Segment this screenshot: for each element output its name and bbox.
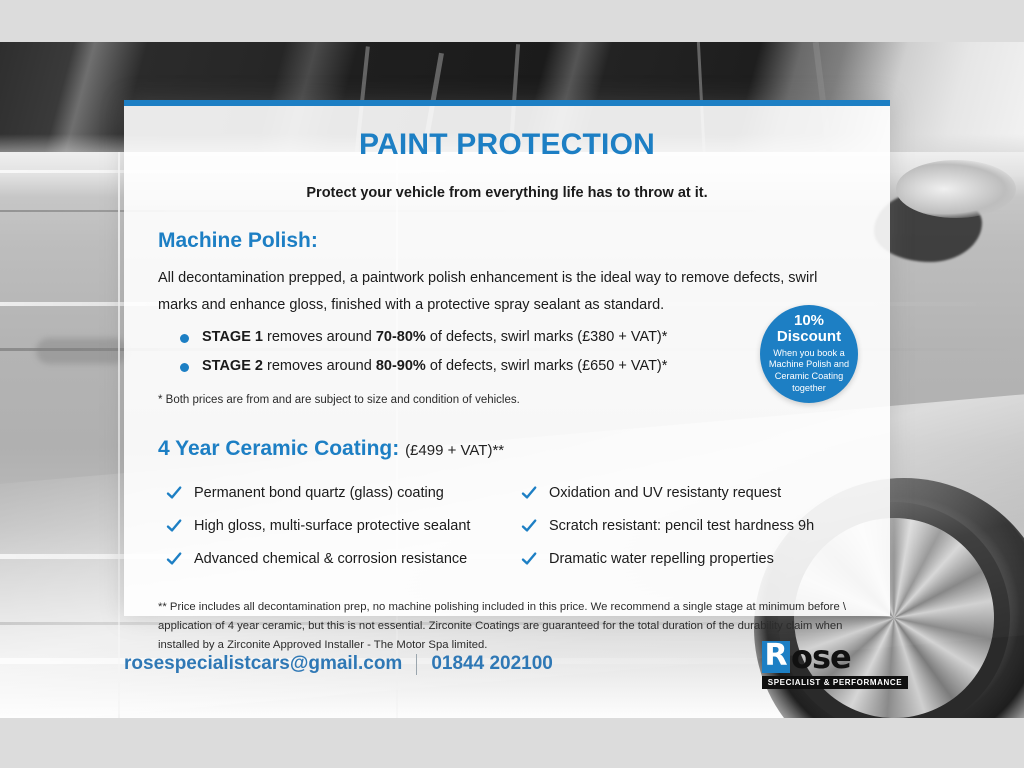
brand-logo: R ose SPECIALIST & PERFORMANCE — [762, 640, 910, 689]
logo-tagline: SPECIALIST & PERFORMANCE — [762, 676, 908, 689]
discount-badge: 10% Discount When you book a Machine Pol… — [760, 305, 858, 403]
stage-list: STAGE 1 removes around 70-80% of defects… — [158, 327, 856, 379]
stage-percent: 80-90% — [376, 358, 426, 374]
stage-name: STAGE 1 — [202, 329, 263, 345]
machine-polish-footnote: * Both prices are from and are subject t… — [158, 392, 856, 409]
discount-percent: 10% — [794, 313, 824, 329]
feature-item: Dramatic water repelling properties — [521, 543, 856, 576]
logo-wordmark: R ose — [762, 640, 910, 674]
feature-label: Permanent bond quartz (glass) coating — [194, 483, 444, 504]
stage-percent: 70-80% — [376, 329, 426, 345]
section-title-ceramic-coating: 4 Year Ceramic Coating: (£499 + VAT)** — [158, 437, 856, 461]
bullet-dot-icon — [180, 363, 189, 372]
contact-email[interactable]: rosespecialistcars@gmail.com — [124, 653, 402, 675]
check-icon — [166, 551, 182, 567]
photo-door-handle — [36, 338, 128, 364]
check-icon — [521, 551, 537, 567]
ceramic-feature-grid: Permanent bond quartz (glass) coating Ox… — [166, 477, 856, 576]
stage-name: STAGE 2 — [202, 358, 263, 374]
section-title-machine-polish: Machine Polish: — [158, 229, 856, 253]
letterbox-top — [0, 0, 1024, 42]
feature-item: Advanced chemical & corrosion resistance — [166, 543, 501, 576]
letterbox-bottom — [0, 718, 1024, 768]
page-subtitle: Protect your vehicle from everything lif… — [158, 185, 856, 201]
stage-tail-text: of defects, swirl marks (£650 + VAT)* — [426, 358, 668, 374]
stage-mid-text: removes around — [263, 329, 376, 345]
feature-label: Scratch resistant: pencil test hardness … — [549, 516, 814, 537]
feature-label: Dramatic water repelling properties — [549, 549, 774, 570]
stage-list-item: STAGE 2 removes around 80-90% of defects… — [180, 356, 856, 378]
contact-block: rosespecialistcars@gmail.com 01844 20210… — [124, 653, 553, 675]
check-icon — [166, 518, 182, 534]
feature-item: Scratch resistant: pencil test hardness … — [521, 510, 856, 543]
ceramic-price: (£499 + VAT)** — [405, 442, 504, 459]
feature-label: Advanced chemical & corrosion resistance — [194, 549, 467, 570]
stage-tail-text: of defects, swirl marks (£380 + VAT)* — [426, 329, 668, 345]
poster-canvas: PAINT PROTECTION Protect your vehicle fr… — [0, 0, 1024, 768]
ceramic-title-text: 4 Year Ceramic Coating: — [158, 437, 399, 460]
stage-mid-text: removes around — [263, 358, 376, 374]
feature-label: Oxidation and UV resistanty request — [549, 483, 781, 504]
feature-item: Permanent bond quartz (glass) coating — [166, 477, 501, 510]
photo-door-shutline — [118, 152, 120, 718]
machine-polish-intro: All decontamination prepped, a paintwork… — [158, 265, 856, 319]
stage-list-item: STAGE 1 removes around 70-80% of defects… — [180, 327, 856, 349]
feature-item: High gloss, multi-surface protective sea… — [166, 510, 501, 543]
discount-subtext: When you book a Machine Polish and Ceram… — [760, 348, 858, 395]
feature-label: High gloss, multi-surface protective sea… — [194, 516, 470, 537]
bullet-dot-icon — [180, 334, 189, 343]
check-icon — [521, 518, 537, 534]
check-icon — [166, 485, 182, 501]
contact-phone[interactable]: 01844 202100 — [431, 653, 553, 675]
discount-word: Discount — [777, 329, 841, 346]
page-title: PAINT PROTECTION — [158, 128, 856, 161]
check-icon — [521, 485, 537, 501]
logo-rest: ose — [791, 641, 851, 673]
logo-initial: R — [762, 641, 790, 673]
photo-lamp-highlight — [896, 160, 1016, 218]
contact-separator — [416, 654, 417, 675]
feature-item: Oxidation and UV resistanty request — [521, 477, 856, 510]
